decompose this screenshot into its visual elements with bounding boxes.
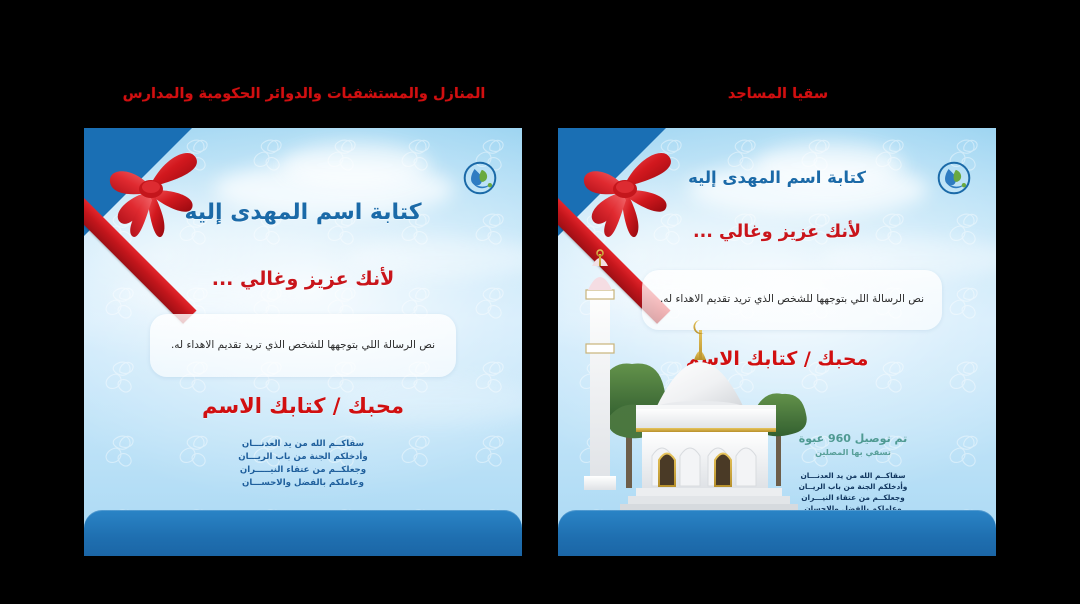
dome <box>656 320 744 415</box>
cloud-shape <box>280 142 430 188</box>
section-title-homes-hospitals: المنازل والمستشفيات والدوائر الحكومية وا… <box>84 86 524 102</box>
water-drop-leaf-logo-icon <box>462 160 498 196</box>
mosque-illustration <box>562 248 822 528</box>
card-signature: محبك / كتابك الاسم <box>84 394 522 418</box>
card-subtitle: لأنك عزيز وغالي ... <box>84 268 522 290</box>
gift-card-mosques[interactable]: كتابة اسم المهدى إليه لأنك عزيز وغالي ..… <box>558 128 996 556</box>
dua-text: سقاكــم الله من يد العدنـــان وأدخلكم ال… <box>84 438 522 490</box>
arcade <box>642 432 768 488</box>
card-footer-bar <box>558 510 996 556</box>
card-footer-bar <box>84 510 522 556</box>
gift-bow-icon <box>92 136 210 248</box>
message-box[interactable]: نص الرسالة اللي بتوجهها للشخص الذي تريد … <box>150 314 456 377</box>
card-headline: كتابة اسم المهدى إليه <box>84 200 522 225</box>
card-subtitle: لأنك عزيز وغالي ... <box>558 222 996 242</box>
section-title-mosques: سقيا المساجد <box>558 86 998 102</box>
gift-card-homes-hospitals[interactable]: كتابة اسم المهدى إليه لأنك عزيز وغالي ..… <box>84 128 522 556</box>
card-headline: كتابة اسم المهدى إليه <box>558 168 996 187</box>
screenshot-stage: المنازل والمستشفيات والدوائر الحكومية وا… <box>0 0 1080 604</box>
message-text: نص الرسالة اللي بتوجهها للشخص الذي تريد … <box>157 338 449 353</box>
